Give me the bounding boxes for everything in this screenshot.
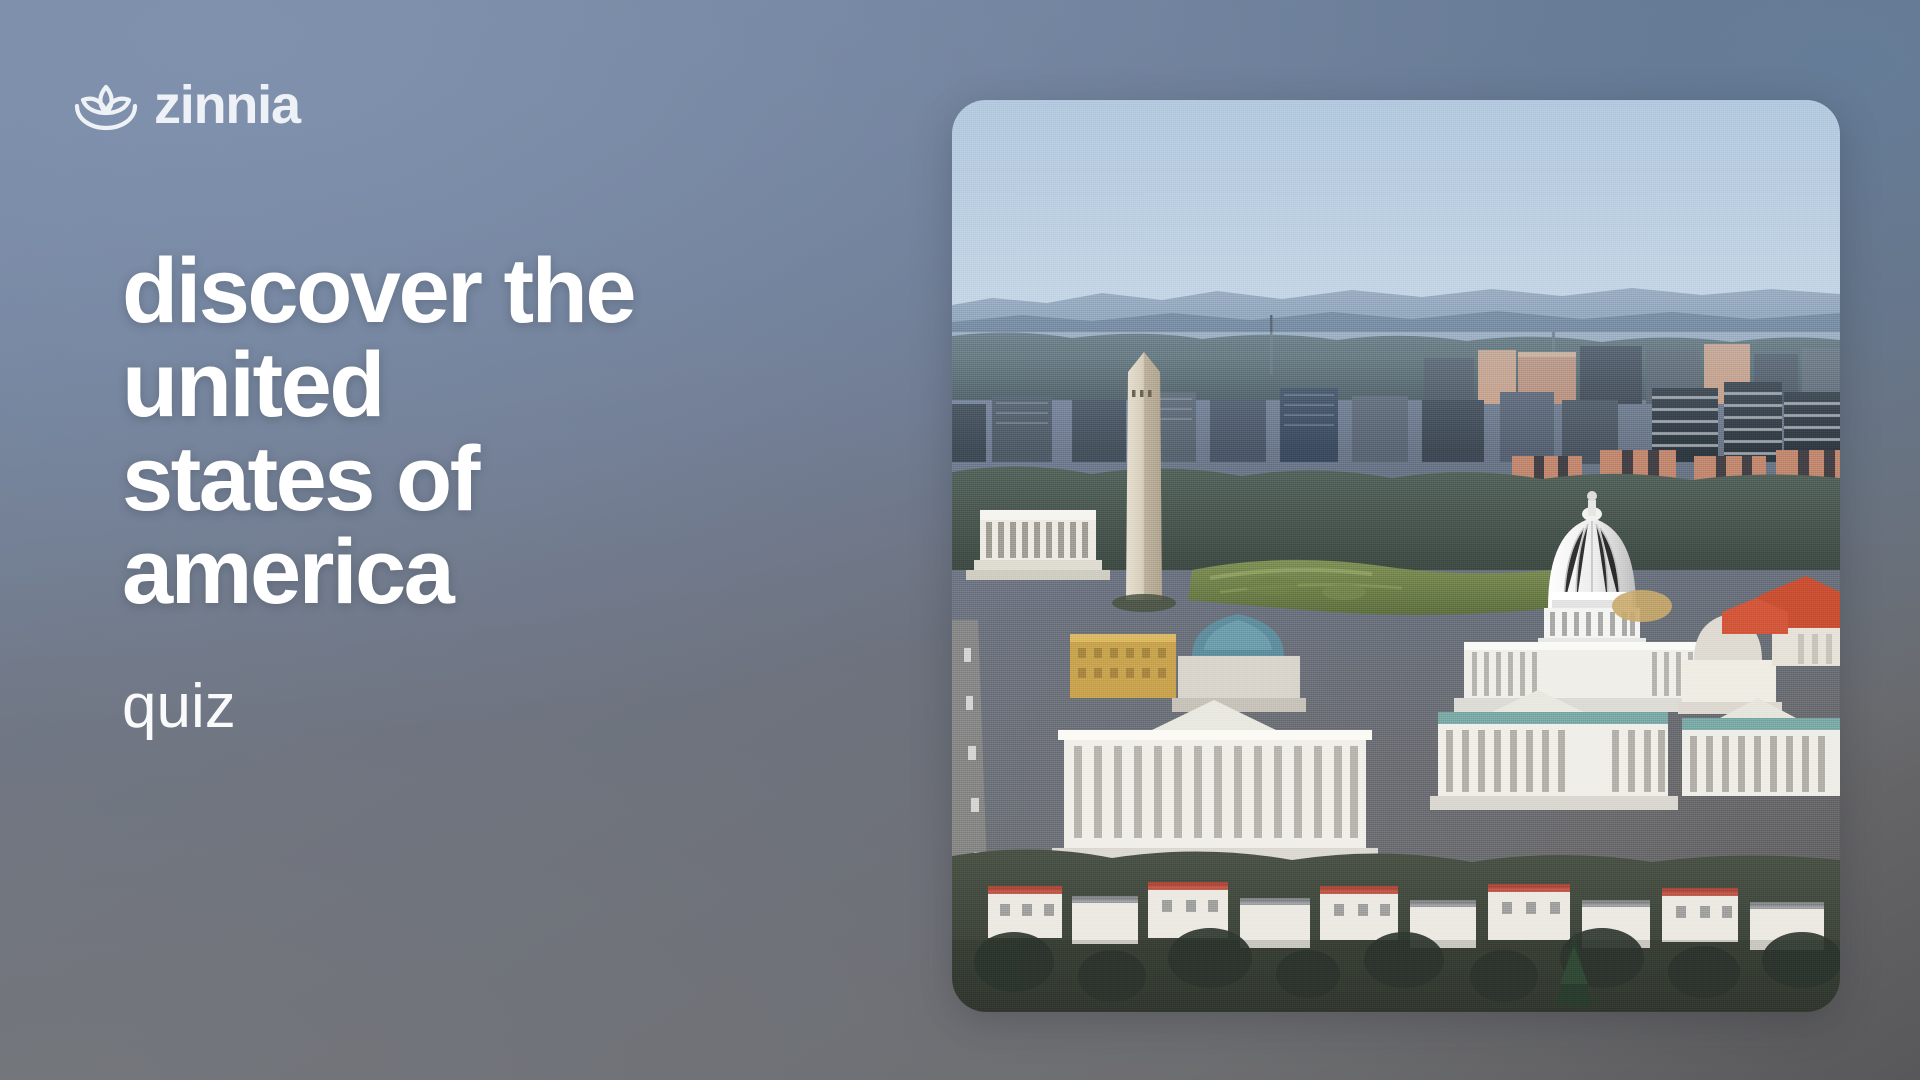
headline-line-4: america [122, 526, 842, 620]
headline-line-2: united [122, 339, 842, 433]
slide-copy: discover the united states of america qu… [122, 245, 842, 738]
headline-line-1: discover the [122, 245, 842, 339]
lotus-flower-icon [72, 79, 140, 131]
white-institutional-block [1052, 700, 1378, 864]
headline-line-3: states of [122, 433, 842, 527]
hero-photo [952, 100, 1840, 1012]
brand-name: zinnia [154, 78, 300, 132]
blue-dome-museum [1070, 614, 1306, 712]
page-title: discover the united states of america [122, 245, 842, 620]
page-subtitle: quiz [122, 676, 842, 738]
lincoln-memorial-shape [966, 510, 1110, 580]
brand-logo[interactable]: zinnia [72, 78, 300, 132]
washington-dc-aerial-illustration [952, 100, 1840, 1012]
